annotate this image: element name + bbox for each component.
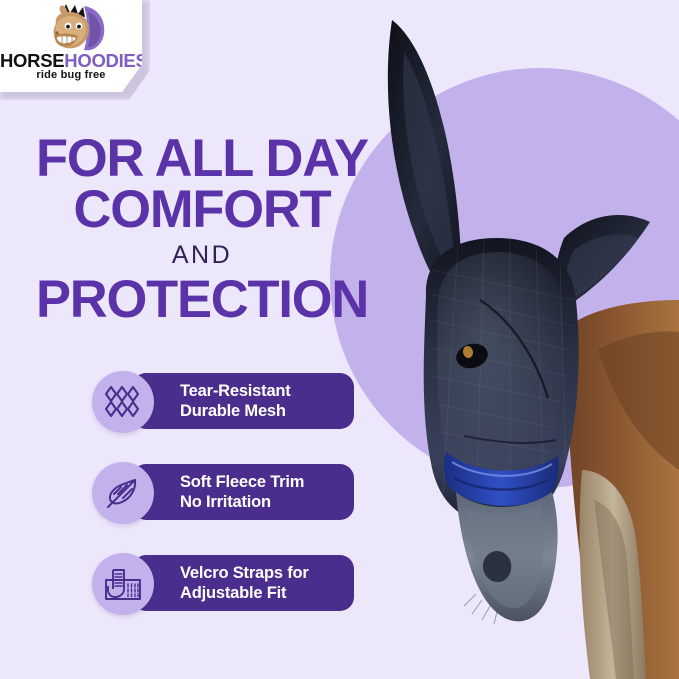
logo-word-hoodies: HOODIES: [64, 50, 147, 71]
feature-pill: Soft Fleece Trim No Irritation: [132, 464, 354, 520]
mesh-lattice-icon: [92, 371, 154, 433]
headline-block: FOR ALL DAY COMFORT AND PROTECTION: [0, 134, 404, 325]
feature-badge-fleece: Soft Fleece Trim No Irritation: [92, 462, 354, 522]
feature-pill: Velcro Straps for Adjustable Fit: [132, 555, 354, 611]
product-marketing-image: HORSEHOODIES ride bug free FOR ALL DAY C…: [0, 0, 679, 679]
horse-head-in-hoodie-icon: [44, 2, 114, 56]
logo-wordmark: HORSEHOODIES: [0, 52, 142, 71]
mule-in-fly-mask-photo: [368, 0, 679, 679]
feature-label: Velcro Straps for Adjustable Fit: [180, 563, 309, 603]
logo-tagline: ride bug free: [0, 70, 142, 81]
feature-label: Soft Fleece Trim No Irritation: [180, 472, 304, 512]
velcro-strap-icon: [92, 553, 154, 615]
feature-badge-list: Tear-Resistant Durable Mesh Soft Fleece …: [92, 371, 354, 613]
headline-line-1: FOR ALL DAY: [2, 134, 402, 185]
feature-label: Tear-Resistant Durable Mesh: [180, 381, 291, 421]
feature-badge-velcro: Velcro Straps for Adjustable Fit: [92, 553, 354, 613]
feature-pill: Tear-Resistant Durable Mesh: [132, 373, 354, 429]
feature-badge-mesh: Tear-Resistant Durable Mesh: [92, 371, 354, 431]
logo-word-horse: HORSE: [0, 50, 64, 71]
brand-logo-plaque: HORSEHOODIES ride bug free: [0, 0, 142, 92]
feather-icon: [92, 462, 154, 524]
headline-line-3: PROTECTION: [2, 275, 402, 326]
headline-line-2: COMFORT: [2, 185, 402, 236]
